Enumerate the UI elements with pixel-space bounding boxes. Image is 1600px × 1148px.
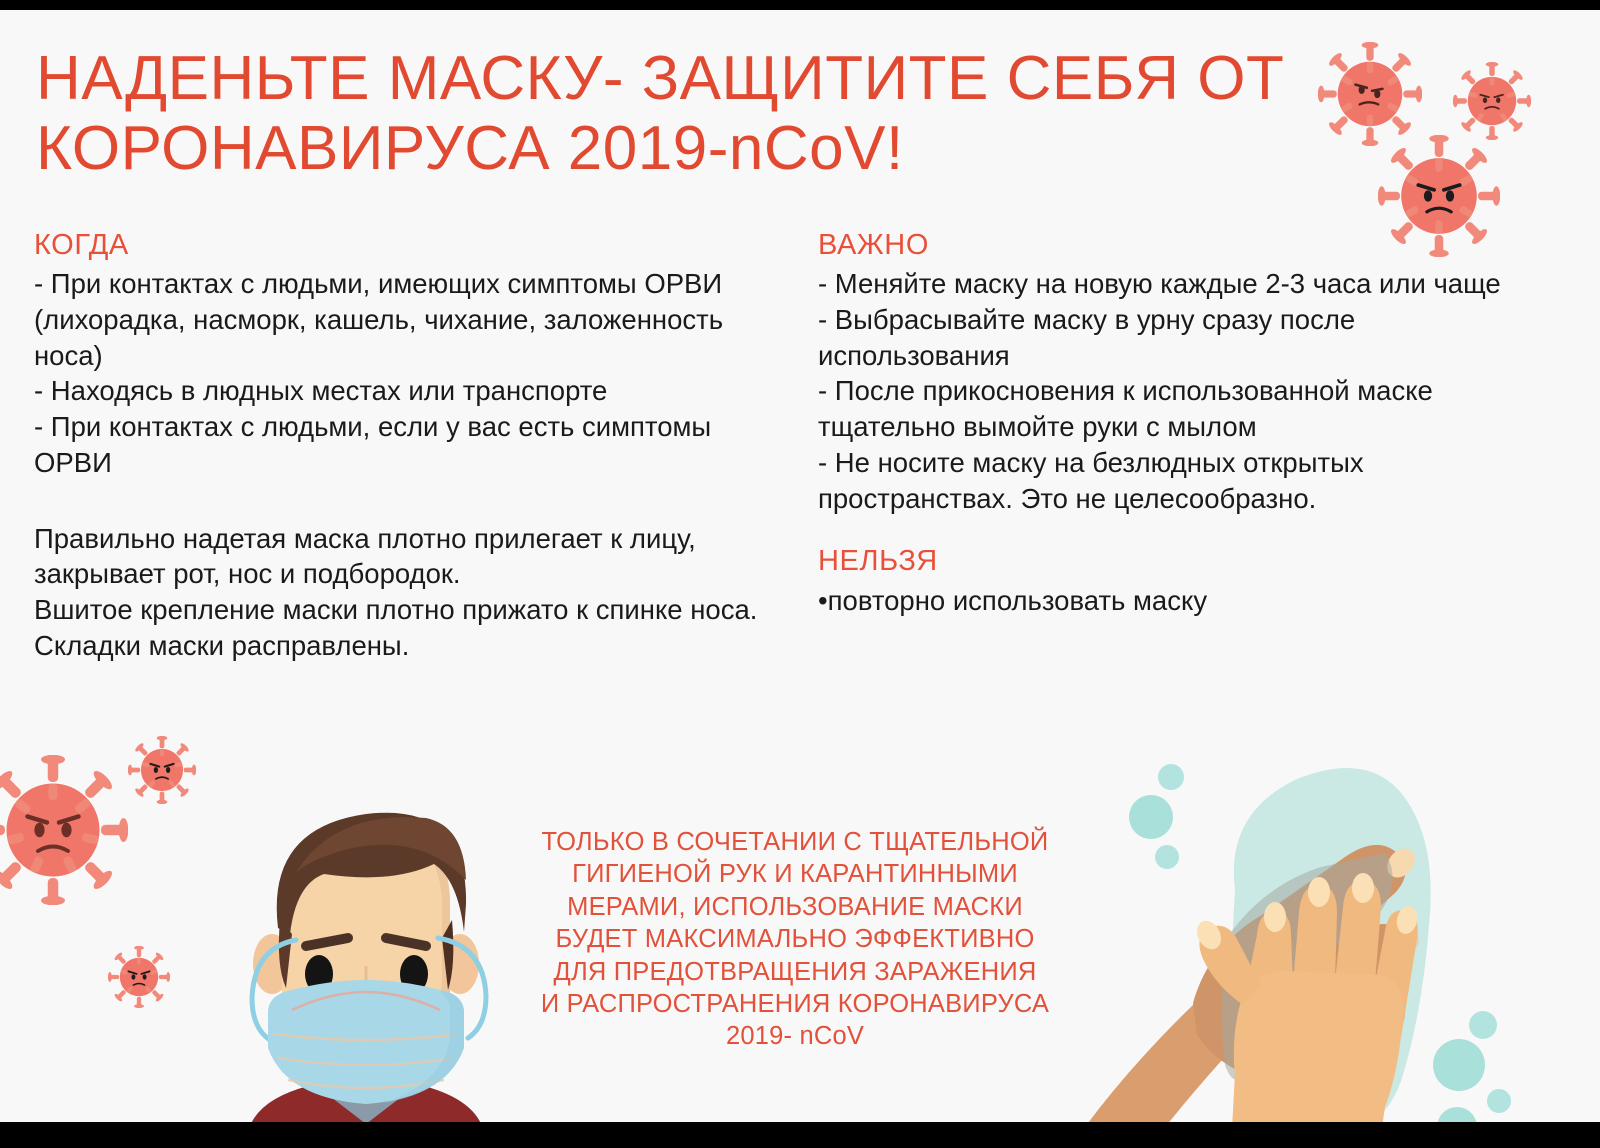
mask-fit-paragraph-2: Вшитое крепление маски плотно прижато к … <box>34 592 786 628</box>
when-bullet-3: - При контактах с людьми, если у вас ест… <box>34 409 786 481</box>
virus-icon-top-right <box>1453 62 1531 140</box>
virus-icon-bottom-left-large <box>0 755 128 905</box>
bottom-message-line-4: БУДЕТ МАКСИМАЛЬНО ЭФФЕКТИВНО <box>505 923 1085 955</box>
poster-canvas: НАДЕНЬТЕ МАСКУ- ЗАЩИТИТЕ СЕБЯ ОТ КОРОНАВ… <box>0 0 1600 1148</box>
bottom-message-block: ТОЛЬКО В СОЧЕТАНИИ С ТЩАТЕЛЬНОЙ ГИГИЕНОЙ… <box>505 826 1085 1053</box>
heading-when: КОГДА <box>34 228 786 262</box>
bottom-message-line-6: И РАСПРОСТРАНЕНИЯ КОРОНАВИРУСА <box>505 988 1085 1020</box>
important-bullet-1: - Меняйте маску на новую каждые 2-3 часа… <box>818 266 1528 302</box>
top-letterbox-bar <box>0 0 1600 10</box>
when-bullet-1: - При контактах с людьми, имеющих симпто… <box>34 266 786 373</box>
forbidden-bullet-1: •повторно использовать маску <box>818 583 1528 619</box>
important-bullet-3: - После прикосновения к использованной м… <box>818 373 1528 445</box>
bottom-message-line-7: 2019- nCoV <box>505 1020 1085 1052</box>
bottom-message-line-5: ДЛЯ ПРЕДОТВРАЩЕНИЯ ЗАРАЖЕНИЯ <box>505 956 1085 988</box>
title-line-1: НАДЕНЬТЕ МАСКУ- ЗАЩИТИТЕ СЕБЯ ОТ <box>36 44 1316 114</box>
mask-fit-paragraph-1: Правильно надетая маска плотно прилегает… <box>34 521 786 593</box>
mask-fit-paragraph-3: Складки маски расправлены. <box>34 628 786 664</box>
important-bullet-4: - Не носите маску на безлюдных открытых … <box>818 445 1528 517</box>
left-column: КОГДА - При контактах с людьми, имеющих … <box>34 228 786 664</box>
left-column-spacer <box>34 481 786 521</box>
heading-important: ВАЖНО <box>818 228 1528 262</box>
virus-icon-bottom-left-small-lower <box>108 946 170 1008</box>
boy-wearing-mask-illustration <box>196 752 536 1148</box>
hand-washing-illustration <box>1085 735 1600 1148</box>
when-bullet-2: - Находясь в людных местах или транспорт… <box>34 373 786 409</box>
title-line-2: КОРОНАВИРУСА 2019-nCoV! <box>36 114 1316 184</box>
virus-icon-top-left <box>1318 42 1422 146</box>
bottom-message-line-3: МЕРАМИ, ИСПОЛЬЗОВАНИЕ МАСКИ <box>505 891 1085 923</box>
right-column-spacer <box>818 516 1528 544</box>
virus-icon-bottom-left-small-upper <box>128 736 196 804</box>
bottom-letterbox-bar <box>0 1122 1600 1148</box>
bottom-message-line-1: ТОЛЬКО В СОЧЕТАНИИ С ТЩАТЕЛЬНОЙ <box>505 826 1085 858</box>
heading-forbidden: НЕЛЬЗЯ <box>818 544 1528 578</box>
bottom-message-line-2: ГИГИЕНОЙ РУК И КАРАНТИННЫМИ <box>505 858 1085 890</box>
page-title: НАДЕНЬТЕ МАСКУ- ЗАЩИТИТЕ СЕБЯ ОТ КОРОНАВ… <box>36 44 1316 184</box>
right-column: ВАЖНО - Меняйте маску на новую каждые 2-… <box>818 228 1528 618</box>
important-bullet-2: - Выбрасывайте маску в урну сразу после … <box>818 302 1528 374</box>
